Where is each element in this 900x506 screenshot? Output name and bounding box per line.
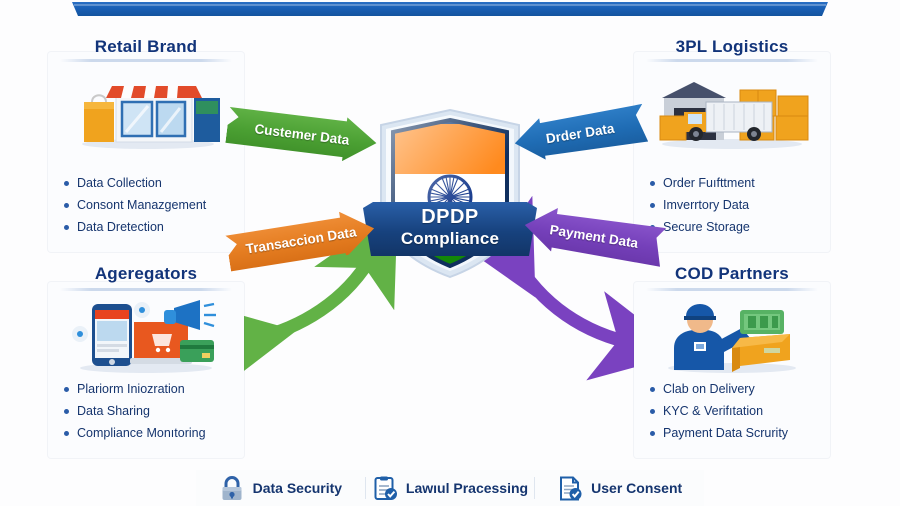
flow-arrow-label: Drder Data [512, 102, 649, 164]
footer-item-data-security[interactable]: Data Security [196, 470, 365, 506]
list-item: Order Fuıfttment [648, 172, 822, 194]
infographic-canvas: Retail Brand [0, 0, 900, 506]
list-item: Compliance Monıtoring [62, 422, 236, 444]
delivery-agent-cash-illustration [644, 296, 820, 374]
purple-curved-arrow [512, 254, 636, 344]
title-divider [60, 59, 232, 62]
card-title-aggregators: Ageregators [48, 264, 244, 284]
flow-arrow-order-data[interactable]: Drder Data [512, 102, 649, 164]
list-item: Consont Manazgement [62, 194, 236, 216]
card-title-cod-partners: COD Partners [634, 264, 830, 284]
warehouse-truck-illustration [644, 68, 820, 150]
quadrant-card-3pl-logistics[interactable]: 3PL Logistics [634, 52, 830, 252]
dpdp-compliance-shield[interactable]: DPDP Compliance [371, 106, 529, 281]
clipboard-check-icon [372, 475, 398, 501]
ecommerce-devices-illustration [58, 296, 234, 374]
footer-principles-bar: Data Security Lawıul Pracessing [196, 470, 704, 506]
list-item: Payment Data Scrurity [648, 422, 822, 444]
bullet-list-cod-partners: Clab on Delivery KYC & Verifıtation Paym… [648, 378, 822, 444]
card-title-3pl-logistics: 3PL Logistics [634, 37, 830, 57]
footer-item-user-consent[interactable]: User Consent [535, 470, 704, 506]
list-item: KYC & Verifıtation [648, 400, 822, 422]
shield-title-line2: Compliance [363, 229, 537, 248]
flow-arrow-transaction-data[interactable]: Transaccion Data [224, 207, 377, 274]
list-item: Imverrtory Data [648, 194, 822, 216]
flow-arrow-customer-data[interactable]: Custemer Data [225, 103, 379, 165]
quadrant-card-aggregators[interactable]: Ageregators [48, 282, 244, 458]
title-divider [646, 59, 818, 62]
list-item: Secure Storage [648, 216, 822, 238]
bullet-list-aggregators: Plariorm Iniozration Data Sharing Compli… [62, 378, 236, 444]
top-banner-highlight [74, 4, 826, 6]
shield-banner: DPDP Compliance [363, 202, 537, 256]
list-item: Data Dretection [62, 216, 236, 238]
title-divider [646, 288, 818, 291]
list-item: Plariorm Iniozration [62, 378, 236, 400]
flow-arrow-label: Transaccion Data [224, 207, 377, 274]
list-item: Data Collection [62, 172, 236, 194]
quadrant-card-retail-brand[interactable]: Retail Brand [48, 52, 244, 252]
title-divider [60, 288, 232, 291]
footer-label: User Consent [591, 480, 682, 496]
list-item: Clab on Delivery [648, 378, 822, 400]
footer-label: Lawıul Pracessing [406, 480, 528, 496]
shield-title-line1: DPDP [363, 206, 537, 229]
retail-storefront-illustration [58, 68, 234, 150]
padlock-icon [219, 475, 245, 501]
footer-item-lawful-processing[interactable]: Lawıul Pracessing [366, 470, 535, 506]
bullet-list-3pl-logistics: Order Fuıfttment Imverrtory Data Secure … [648, 172, 822, 238]
document-check-icon [557, 475, 583, 501]
footer-label: Data Security [253, 480, 342, 496]
bullet-list-retail-brand: Data Collection Consont Manazgement Data… [62, 172, 236, 238]
list-item: Data Sharing [62, 400, 236, 422]
quadrant-card-cod-partners[interactable]: COD Partners [634, 282, 830, 458]
card-title-retail-brand: Retail Brand [48, 37, 244, 57]
flow-arrow-label: Custemer Data [225, 103, 379, 165]
